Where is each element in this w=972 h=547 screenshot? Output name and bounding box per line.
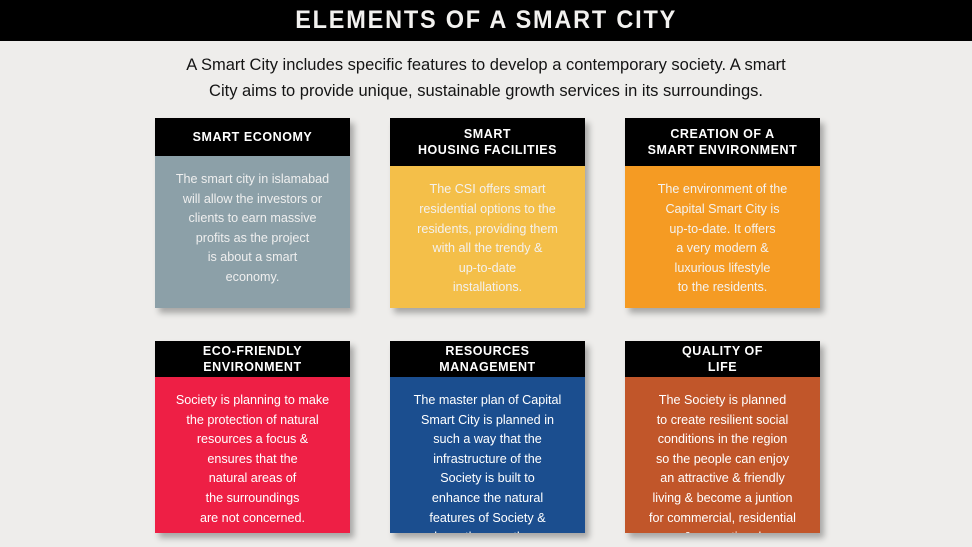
card-body-line: such a way that the	[400, 430, 575, 450]
card-body-line: an attractive & friendly	[635, 469, 810, 489]
card-title-line-1: SMART ECONOMY	[193, 129, 313, 145]
card-body-line: & recreational	[635, 528, 810, 533]
card-body-line: economy.	[165, 268, 340, 288]
card-body-line: infrastructure of the	[400, 450, 575, 470]
intro-line-1: A Smart City includes specific features …	[110, 52, 862, 78]
card-body: The master plan of Capital Smart City is…	[390, 377, 585, 533]
card-body-line: enhance the natural	[400, 489, 575, 509]
card-body-line: resources a focus &	[165, 430, 340, 450]
card-body-line: luxurious lifestyle	[635, 259, 810, 279]
card-body-line: residents, providing them	[400, 220, 575, 240]
card-body-line: The master plan of Capital	[400, 391, 575, 411]
card-body-line: are not concerned.	[165, 509, 340, 529]
card-body-line: The environment of the	[635, 180, 810, 200]
card-header: SMART ECONOMY	[155, 118, 350, 156]
card-body: The CSI offers smart residential options…	[390, 166, 585, 308]
intro-line-2: City aims to provide unique, sustainable…	[110, 78, 862, 104]
card-body-line: features of Society &	[400, 509, 575, 529]
card-body-line: Society is planning to make	[165, 391, 340, 411]
card-body-line: keep the growth as	[400, 528, 575, 533]
card-body-line: is about a smart	[165, 248, 340, 268]
card-body: The smart city in islamabad will allow t…	[155, 156, 350, 308]
card-title-line-2: LIFE	[708, 359, 737, 375]
card-body-line: a very modern &	[635, 239, 810, 259]
card-body-line: so the people can enjoy	[635, 450, 810, 470]
card-body: Society is planning to make the protecti…	[155, 377, 350, 533]
card-body-line: for commercial, residential	[635, 509, 810, 529]
card-body: The environment of the Capital Smart Cit…	[625, 166, 820, 308]
infographic-page: ELEMENTS OF A SMART CITY A Smart City in…	[0, 0, 972, 547]
card-body-line: will allow the investors or	[165, 190, 340, 210]
card-body-line: clients to earn massive	[165, 209, 340, 229]
card-body-line: residential options to the	[400, 200, 575, 220]
card-body-line: to the residents.	[635, 278, 810, 298]
card-title-line-2: ENVIRONMENT	[203, 359, 301, 375]
card-body-line: Smart City is planned in	[400, 411, 575, 431]
card-body-line: to create resilient social	[635, 411, 810, 431]
card-body-line: up-to-date	[400, 259, 575, 279]
card-quality-of-life: QUALITY OF LIFE The Society is planned t…	[625, 341, 820, 533]
card-creation-of-a-smart-environment: CREATION OF A SMART ENVIRONMENT The envi…	[625, 118, 820, 308]
card-body-line: installations.	[400, 278, 575, 298]
card-title-line-2: HOUSING FACILITIES	[418, 142, 557, 158]
card-title-line-1: CREATION OF A	[670, 126, 774, 142]
card-grid: SMART ECONOMY The smart city in islamaba…	[155, 118, 818, 533]
card-header: CREATION OF A SMART ENVIRONMENT	[625, 118, 820, 166]
card-body-line: The Society is planned	[635, 391, 810, 411]
intro-paragraph: A Smart City includes specific features …	[0, 52, 972, 104]
card-body-line: conditions in the region	[635, 430, 810, 450]
card-body-line: Capital Smart City is	[635, 200, 810, 220]
card-title-line-1: ECO-FRIENDLY	[203, 343, 302, 359]
card-body-line: natural areas of	[165, 469, 340, 489]
card-header: ECO-FRIENDLY ENVIRONMENT	[155, 341, 350, 377]
card-smart-economy: SMART ECONOMY The smart city in islamaba…	[155, 118, 350, 308]
card-body-line: The smart city in islamabad	[165, 170, 340, 190]
page-title: ELEMENTS OF A SMART CITY	[295, 6, 677, 35]
card-body-line: The CSI offers smart	[400, 180, 575, 200]
card-body: The Society is planned to create resilie…	[625, 377, 820, 533]
card-header: QUALITY OF LIFE	[625, 341, 820, 377]
card-body-line: ensures that the	[165, 450, 340, 470]
card-body-line: living & become a juntion	[635, 489, 810, 509]
card-resources-management: RESOURCES MANAGEMENT The master plan of …	[390, 341, 585, 533]
card-eco-friendly-environment: ECO-FRIENDLY ENVIRONMENT Society is plan…	[155, 341, 350, 533]
card-title-line-2: MANAGEMENT	[439, 359, 535, 375]
card-header: RESOURCES MANAGEMENT	[390, 341, 585, 377]
card-body-line: up-to-date. It offers	[635, 220, 810, 240]
card-smart-housing-facilities: SMART HOUSING FACILITIES The CSI offers …	[390, 118, 585, 308]
card-body-line: the protection of natural	[165, 411, 340, 431]
card-body-line: the surroundings	[165, 489, 340, 509]
card-title-line-1: RESOURCES	[445, 343, 529, 359]
title-bar: ELEMENTS OF A SMART CITY	[0, 0, 972, 41]
card-body-line: with all the trendy &	[400, 239, 575, 259]
card-body-line: profits as the project	[165, 229, 340, 249]
card-title-line-1: SMART	[464, 126, 511, 142]
card-header: SMART HOUSING FACILITIES	[390, 118, 585, 166]
card-body-line: Society is built to	[400, 469, 575, 489]
card-title-line-1: QUALITY OF	[682, 343, 763, 359]
card-title-line-2: SMART ENVIRONMENT	[648, 142, 798, 158]
